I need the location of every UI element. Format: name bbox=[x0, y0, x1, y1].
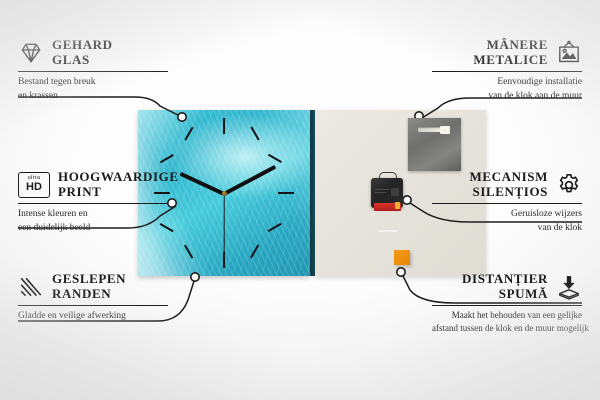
callout-title-line2: PRINT bbox=[58, 185, 179, 200]
callout-titles: DISTANȚIER SPUMĂ bbox=[462, 272, 548, 301]
diamond-icon bbox=[18, 40, 44, 66]
mechanism-detail bbox=[375, 192, 386, 193]
callout-subtitle-line1: Gladde en veilige afwerking bbox=[18, 310, 168, 323]
callout-manere-metalice: MÂNERE METALICE Eenvoudige installatie v… bbox=[432, 38, 582, 103]
callout-title-line2: SILENȚIOS bbox=[470, 185, 548, 200]
callout-rule bbox=[18, 305, 168, 306]
callout-rule bbox=[18, 71, 168, 72]
callout-subtitle-line1: Intense kleuren en bbox=[18, 208, 168, 221]
callout-rule bbox=[432, 305, 582, 306]
callout-subtitle-line2: van de klok aan de muur bbox=[432, 90, 582, 103]
callout-title-line1: GESLEPEN bbox=[52, 272, 126, 287]
callout-subtitle-line2: van de klok bbox=[432, 222, 582, 235]
callout-header: DISTANȚIER SPUMĂ bbox=[432, 272, 582, 301]
callout-subtitle-line1: Geruisloze wijzers bbox=[432, 208, 582, 221]
clock-mechanism-box bbox=[371, 172, 403, 208]
mechanism-detail bbox=[391, 188, 399, 196]
callout-titles: GESLEPEN RANDEN bbox=[52, 272, 126, 301]
callout-titles: MÂNERE METALICE bbox=[473, 38, 548, 67]
callout-subtitle-line1: Bestand tegen breuk bbox=[18, 76, 168, 89]
clock-center-pin bbox=[222, 191, 227, 196]
callout-mecanism-silentios: MECANISM SILENȚIOS Geruisloze wijzers va… bbox=[432, 170, 582, 235]
callout-titles: GEHARD GLAS bbox=[52, 38, 113, 67]
callout-rule bbox=[18, 203, 168, 204]
beveled-edges-icon bbox=[18, 274, 44, 300]
callout-title-line1: MECANISM bbox=[470, 170, 548, 185]
callout-title-line1: MÂNERE bbox=[473, 38, 548, 53]
battery-label bbox=[379, 230, 397, 232]
callout-title-line1: DISTANȚIER bbox=[462, 272, 548, 287]
foam-spacer bbox=[394, 250, 410, 265]
callout-gehard-glas: GEHARD GLAS Bestand tegen breuk en krass… bbox=[18, 38, 168, 103]
foam-spacer-icon bbox=[556, 274, 582, 300]
callout-title-line2: RANDEN bbox=[52, 287, 126, 302]
clock-tick bbox=[278, 192, 294, 194]
clock-second-hand bbox=[223, 193, 224, 261]
callout-subtitle-line2: een duidelijk beeld bbox=[18, 222, 168, 235]
callout-subtitle-line1: Maakt het behouden van een gelijke bbox=[432, 310, 582, 322]
callout-titles: HOOGWAARDIGE PRINT bbox=[58, 170, 179, 199]
callout-header: GEHARD GLAS bbox=[18, 38, 168, 67]
callout-subtitle-line1: Eenvoudige installatie bbox=[432, 76, 582, 89]
callout-header: MÂNERE METALICE bbox=[432, 38, 582, 67]
picture-hanging-icon bbox=[556, 40, 582, 66]
callout-title-line2: SPUMĂ bbox=[462, 287, 548, 302]
callout-rule bbox=[432, 203, 582, 204]
mechanism-detail bbox=[375, 189, 389, 190]
ultra-hd-icon-big-text: HD bbox=[26, 182, 42, 193]
infographic-canvas: GEHARD GLAS Bestand tegen breuk en krass… bbox=[0, 0, 600, 400]
callout-rule bbox=[432, 71, 582, 72]
battery-plus-terminal bbox=[395, 202, 400, 209]
callout-subtitle-line2: en krassen bbox=[18, 90, 168, 103]
hanger-slot-hole bbox=[440, 126, 450, 134]
gear-icon bbox=[556, 172, 582, 198]
callout-subtitle-line2: afstand tussen de klok en de muur mogeli… bbox=[432, 323, 582, 335]
mechanism-body bbox=[371, 178, 403, 208]
ultra-hd-icon: ultra HD bbox=[18, 172, 50, 198]
callout-title-line1: HOOGWAARDIGE bbox=[58, 170, 179, 185]
callout-title-line1: GEHARD bbox=[52, 38, 113, 53]
clock-tick bbox=[223, 118, 225, 134]
callout-titles: MECANISM SILENȚIOS bbox=[470, 170, 548, 199]
callout-hoogwaardige-print: ultra HD HOOGWAARDIGE PRINT Intense kleu… bbox=[18, 170, 168, 235]
metal-hanger-plate bbox=[408, 118, 461, 171]
callout-distantier-spuma: DISTANȚIER SPUMĂ Maakt het behouden van … bbox=[432, 272, 582, 335]
callout-header: ultra HD HOOGWAARDIGE PRINT bbox=[18, 170, 168, 199]
callout-title-line2: GLAS bbox=[52, 53, 113, 68]
callout-header: GESLEPEN RANDEN bbox=[18, 272, 168, 301]
callout-geslepen-randen: GESLEPEN RANDEN Gladde en veilige afwerk… bbox=[18, 272, 168, 323]
callout-header: MECANISM SILENȚIOS bbox=[432, 170, 582, 199]
callout-title-line2: METALICE bbox=[473, 53, 548, 68]
